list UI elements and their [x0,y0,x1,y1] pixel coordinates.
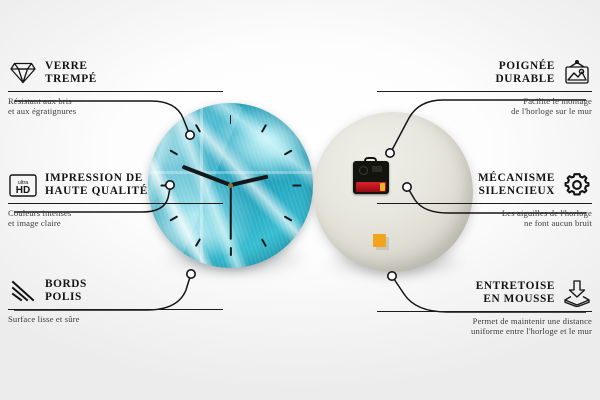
feature-entretoise-en-mousse[interactable]: ENTRETOISEEN MOUSSE Permet de maintenir … [377,278,592,337]
feature-title: POIGNÉEDURABLE [496,60,555,85]
feature-verre-trempe[interactable]: VERRETREMPÉ Résistant aux briset aux égr… [8,58,223,117]
feature-title: MÉCANISMESILENCIEUX [478,172,555,197]
hour-mark [230,115,232,124]
divider [8,91,223,92]
feature-header: ultra HD IMPRESSION DEHAUTE QUALITÉ [8,170,223,200]
feature-header: MÉCANISMESILENCIEUX [377,170,592,200]
hour-mark [230,247,232,256]
gear-icon [562,170,592,200]
feature-mecanisme-silencieux[interactable]: MÉCANISMESILENCIEUX Les aiguilles de l'h… [377,170,592,229]
feature-subtitle: Surface lisse et sûre [8,314,223,324]
picture-hanger-icon [562,58,592,88]
feature-header: ENTRETOISEEN MOUSSE [377,278,592,308]
feature-bords-polis[interactable]: BORDSPOLIS Surface lisse et sûre [8,276,223,324]
feature-impression-haute-qualite[interactable]: ultra HD IMPRESSION DEHAUTE QUALITÉ Coul… [8,170,223,229]
second-hand [230,186,232,240]
feature-subtitle: Les aiguilles de l'horlogene font aucun … [377,208,592,229]
diamond-icon [8,58,38,88]
foam-spacer-icon [562,278,592,308]
feature-title: IMPRESSION DEHAUTE QUALITÉ [45,172,148,197]
polished-edge-icon [8,276,38,306]
feature-title: ENTRETOISEEN MOUSSE [476,280,555,305]
divider [377,311,592,312]
svg-text:HD: HD [16,185,30,196]
feature-header: POIGNÉEDURABLE [377,58,592,88]
feature-subtitle: Facilite le montagede l'horloge sur le m… [377,96,592,117]
feature-subtitle: Résistant aux briset aux égratignures [8,96,223,117]
feature-header: VERRETREMPÉ [8,58,223,88]
divider [8,309,223,310]
hour-mark [292,185,301,187]
feature-header: BORDSPOLIS [8,276,223,306]
infographic-stage: VERRETREMPÉ Résistant aux briset aux égr… [0,0,600,400]
ultra-hd-icon: ultra HD [8,170,38,200]
feature-subtitle: Permet de maintenir une distanceuniforme… [377,316,592,337]
feature-title: BORDSPOLIS [45,278,87,303]
feature-subtitle: Couleurs intenseset image claire [8,208,223,229]
feature-poignee-durable[interactable]: POIGNÉEDURABLE Facilite le montagede l'h… [377,58,592,117]
foam-spacer [373,234,386,247]
divider [8,203,223,204]
feature-title: VERRETREMPÉ [45,60,97,85]
divider [377,91,592,92]
divider [377,203,592,204]
mechanism-dial [359,166,368,175]
